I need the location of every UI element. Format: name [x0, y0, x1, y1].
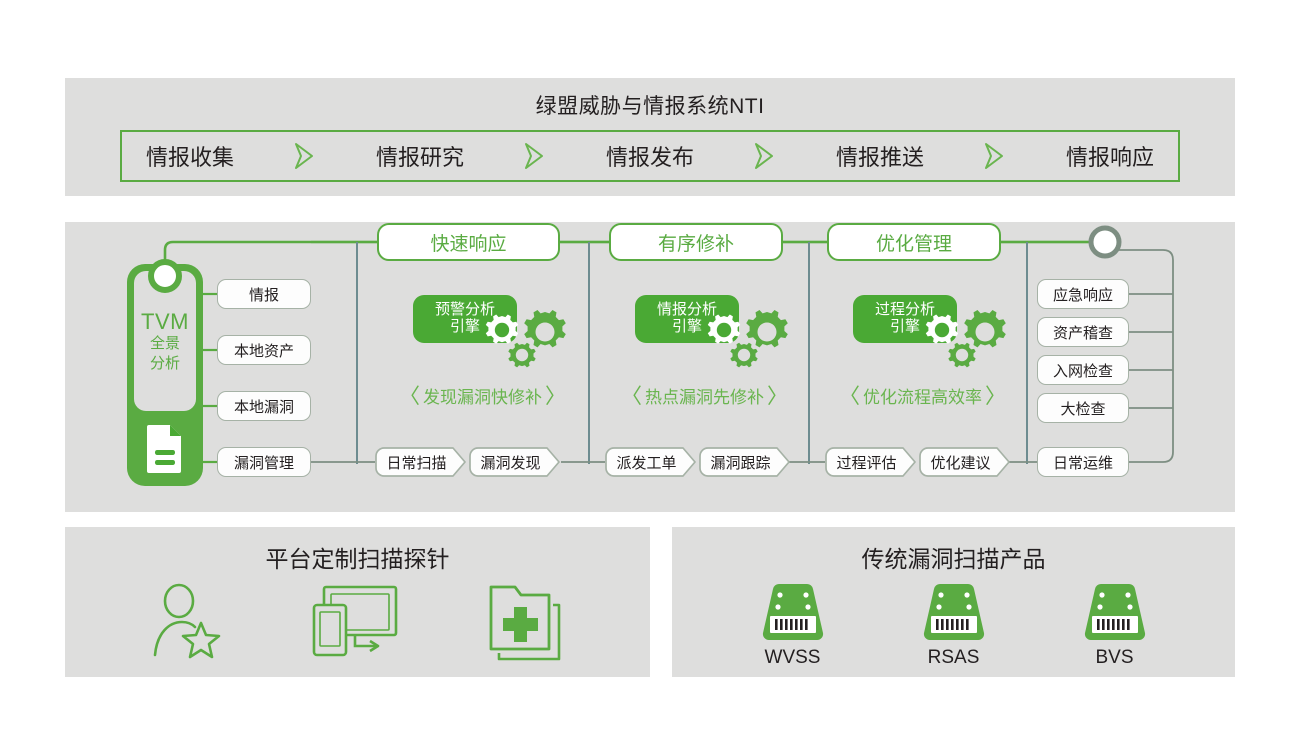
column-tag-2-0[interactable]: 过程评估 — [825, 447, 917, 477]
product-label-1: RSAS — [928, 647, 980, 669]
products-title: 传统漏洞扫描产品 — [672, 540, 1235, 574]
column-tag-1-0[interactable]: 派发工单 — [605, 447, 697, 477]
column-slogan-1: 〈 热点漏洞先修补 〉 — [621, 380, 788, 410]
gears-icon — [920, 306, 1012, 370]
tvm-flow-panel: TVM 全景 分析 情报 本地资产 本地漏洞 漏洞管理 快速响应 预警分析 引擎 — [65, 222, 1235, 512]
product-item-1[interactable]: RSAS — [918, 583, 990, 669]
column-header-1[interactable]: 有序修补 — [609, 223, 783, 261]
output-item-0[interactable]: 应急响应 — [1037, 279, 1129, 309]
probes-icon-row — [65, 583, 650, 661]
document-icon — [143, 422, 187, 474]
appliance-icon — [1079, 583, 1151, 645]
flow-step-0: 情报收集 — [146, 140, 234, 172]
angle-left-icon: 〈 — [399, 380, 420, 410]
flow-step-3: 情报推送 — [836, 140, 924, 172]
folder-plus-icon — [489, 583, 567, 661]
person-star-icon — [149, 583, 223, 659]
tvm-input-0[interactable]: 情报 — [217, 279, 311, 309]
gears-icon — [480, 306, 572, 370]
column-tag-0-0[interactable]: 日常扫描 — [375, 447, 467, 477]
angle-right-icon: 〉 — [985, 380, 1006, 410]
column-tag-2-1[interactable]: 优化建议 — [919, 447, 1011, 477]
output-item-4[interactable]: 日常运维 — [1037, 447, 1129, 477]
chevron-right-icon — [978, 139, 1012, 173]
output-item-2[interactable]: 入网检查 — [1037, 355, 1129, 385]
products-panel: 传统漏洞扫描产品 — [672, 527, 1235, 677]
products-row: WVSS — [672, 583, 1235, 669]
nti-flow-bar: 情报收集 情报研究 情报发布 情报推送 情报响应 — [120, 130, 1180, 182]
devices-icon — [310, 583, 402, 659]
chevron-right-icon — [748, 139, 782, 173]
engine-line2-1: 引擎 — [672, 319, 702, 336]
gears-icon — [702, 306, 794, 370]
output-item-3[interactable]: 大检查 — [1037, 393, 1129, 423]
appliance-icon — [918, 583, 990, 645]
output-item-1[interactable]: 资产稽查 — [1037, 317, 1129, 347]
appliance-icon — [757, 583, 829, 645]
probes-title: 平台定制扫描探针 — [65, 540, 650, 574]
column-slogan-0: 〈 发现漏洞快修补 〉 — [399, 380, 566, 410]
flow-step-4: 情报响应 — [1066, 140, 1154, 172]
chevron-right-icon — [518, 139, 552, 173]
column-tag-0-1[interactable]: 漏洞发现 — [469, 447, 561, 477]
tvm-input-3[interactable]: 漏洞管理 — [217, 447, 311, 477]
tvm-line1: 全景 — [150, 335, 180, 352]
nti-title: 绿盟威胁与情报系统NTI — [65, 90, 1235, 120]
product-label-2: BVS — [1095, 647, 1133, 669]
nti-banner-panel: 绿盟威胁与情报系统NTI 情报收集 情报研究 情报发布 情报推送 情报响应 — [65, 78, 1235, 196]
flow-step-2: 情报发布 — [606, 140, 694, 172]
product-item-2[interactable]: BVS — [1079, 583, 1151, 669]
angle-right-icon: 〉 — [545, 380, 566, 410]
circle-node-icon — [1091, 228, 1119, 256]
tvm-line2: 分析 — [150, 355, 180, 372]
tvm-input-1[interactable]: 本地资产 — [217, 335, 311, 365]
chevron-right-icon — [288, 139, 322, 173]
probes-panel: 平台定制扫描探针 — [65, 527, 650, 677]
diagram-canvas: 绿盟威胁与情报系统NTI 情报收集 情报研究 情报发布 情报推送 情报响应 — [0, 0, 1300, 750]
column-tag-1-1[interactable]: 漏洞跟踪 — [699, 447, 791, 477]
angle-left-icon: 〈 — [621, 380, 642, 410]
flow-step-1: 情报研究 — [376, 140, 464, 172]
engine-line2-0: 引擎 — [450, 319, 480, 336]
engine-line2-2: 引擎 — [890, 319, 920, 336]
tvm-input-2[interactable]: 本地漏洞 — [217, 391, 311, 421]
angle-right-icon: 〉 — [767, 380, 788, 410]
product-item-0[interactable]: WVSS — [757, 583, 829, 669]
circle-node-icon — [143, 254, 187, 298]
angle-left-icon: 〈 — [839, 380, 860, 410]
column-header-2[interactable]: 优化管理 — [827, 223, 1001, 261]
column-header-0[interactable]: 快速响应 — [377, 223, 560, 261]
tvm-abbr: TVM — [141, 310, 189, 333]
product-label-0: WVSS — [765, 647, 821, 669]
column-slogan-2: 〈 优化流程高效率 〉 — [839, 380, 1006, 410]
